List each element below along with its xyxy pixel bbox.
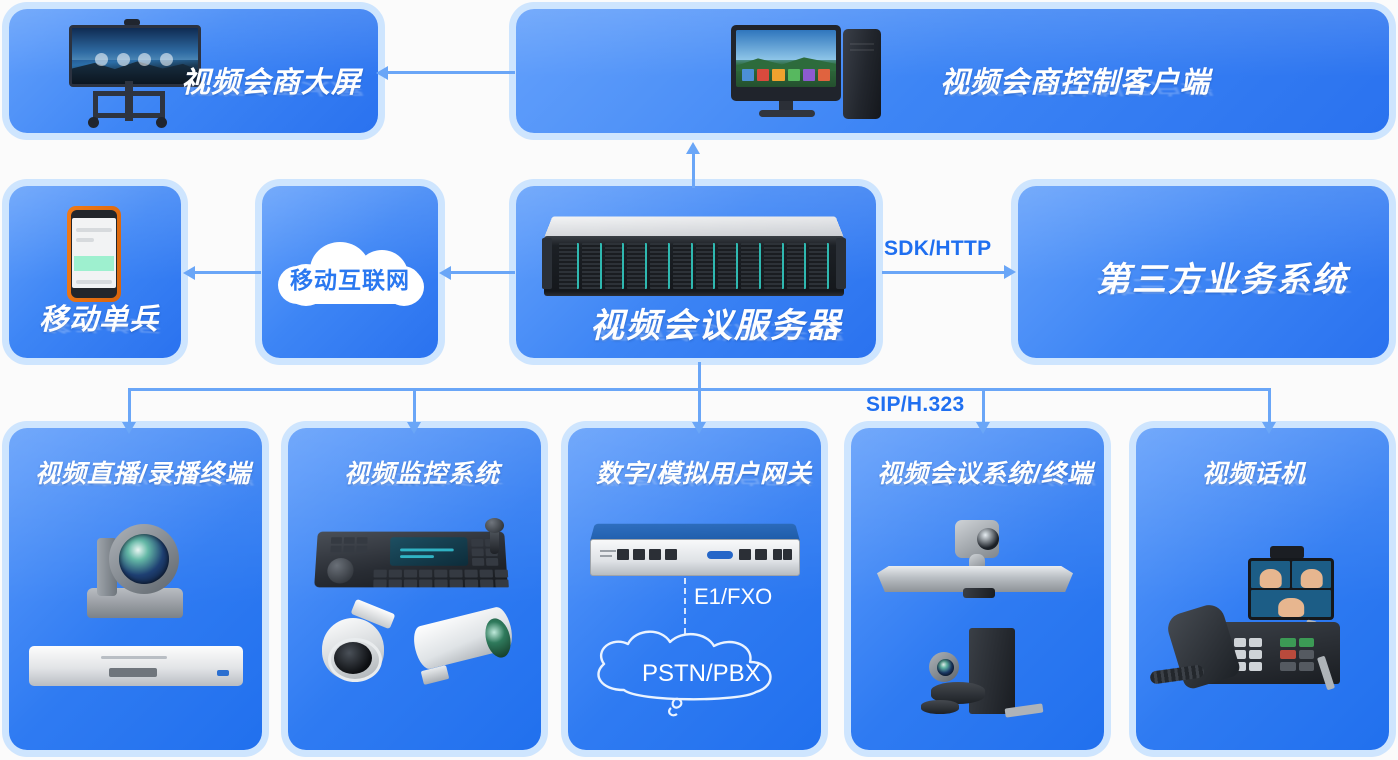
connector-server-to-internet — [449, 271, 515, 274]
connector-server-to-thirdparty — [882, 271, 1006, 274]
arrowhead-to-internet — [439, 266, 451, 280]
voice-gateway-appliance-icon — [590, 518, 800, 576]
node-control-client[interactable]: 视频会商控制客户端 视频会商控制客户端 — [516, 9, 1389, 133]
arrowhead-vc-system — [976, 422, 990, 434]
node-live-terminal[interactable]: 视频直播/录播终端 视频直播/录播终端 — [9, 428, 262, 750]
label-vc-system-text: 视频会议系统/终端 — [877, 460, 1093, 488]
arrowhead-surveillance — [407, 422, 421, 434]
video-desk-phone-icon — [1154, 546, 1378, 736]
node-big-screen[interactable]: 视频会商大屏 视频会商大屏 — [9, 9, 378, 133]
label-pstn-pbx: PSTN/PBX — [642, 660, 761, 688]
protocol-label-sdk-http: SDK/HTTP — [884, 237, 991, 261]
label-mobile-unit-text: 移动单兵 — [39, 304, 159, 336]
label-gateway-text: 数字/模拟用户网关 — [596, 460, 812, 488]
label-third-party: 第三方业务系统 第三方业务系统 — [1096, 252, 1348, 301]
arrowhead-gateway — [692, 422, 706, 434]
node-mobile-internet[interactable]: 移动互联网 — [262, 186, 438, 358]
arrowhead-live-terminal — [122, 422, 136, 434]
node-third-party[interactable]: 第三方业务系统 第三方业务系统 — [1018, 186, 1389, 358]
node-surveillance[interactable]: 视频监控系统 视频监控系统 — [288, 428, 541, 750]
rack-server-icon — [544, 208, 844, 296]
connector-server-to-client — [692, 152, 695, 188]
label-third-party-text: 第三方业务系统 — [1096, 261, 1348, 299]
label-video-phone-text: 视频话机 — [1202, 460, 1306, 488]
protocol-label-e1-fxo: E1/FXO — [694, 584, 772, 610]
node-video-phone[interactable]: 视频话机 视频话机 — [1136, 428, 1389, 750]
arrowhead-to-client — [686, 142, 700, 154]
label-conference-server: 视频会议服务器 视频会议服务器 — [590, 298, 842, 347]
label-control-client: 视频会商控制客户端 视频会商控制客户端 — [940, 59, 1210, 101]
arrowhead-to-bigscreen — [376, 66, 388, 80]
ptz-camera-and-codec-icon — [67, 520, 217, 720]
protocol-label-sip-h323: SIP/H.323 — [866, 393, 964, 417]
label-surveillance: 视频监控系统 视频监控系统 — [344, 454, 500, 490]
label-mobile-internet: 移动互联网 — [290, 261, 410, 295]
label-gateway: 数字/模拟用户网关 数字/模拟用户网关 — [596, 454, 812, 490]
control-keyboard-and-cctv-cameras-icon — [306, 518, 524, 728]
connector-client-to-bigscreen — [386, 71, 515, 74]
arrowhead-video-phone — [1262, 422, 1276, 434]
architecture-diagram: SDK/HTTP SIP/H.323 视 — [0, 0, 1398, 760]
node-gateway[interactable]: 数字/模拟用户网关 数字/模拟用户网关 E1/FXO PSTN/PBX — [568, 428, 821, 750]
label-control-client-text: 视频会商控制客户端 — [940, 67, 1210, 99]
label-vc-system: 视频会议系统/终端 视频会议系统/终端 — [877, 454, 1093, 490]
connector-internet-to-mobile — [193, 271, 261, 274]
label-big-screen: 视频会商大屏 视频会商大屏 — [181, 59, 361, 101]
label-conference-server-text: 视频会议服务器 — [590, 307, 842, 345]
label-big-screen-text: 视频会商大屏 — [181, 67, 361, 99]
label-video-phone: 视频话机 视频话机 — [1202, 454, 1306, 490]
node-conference-server[interactable]: 视频会议服务器 视频会议服务器 — [516, 186, 876, 358]
label-mobile-unit: 移动单兵 移动单兵 — [39, 296, 159, 338]
node-mobile-unit[interactable]: 移动单兵 移动单兵 — [9, 186, 181, 358]
label-live-terminal: 视频直播/录播终端 视频直播/录播终端 — [35, 454, 251, 490]
label-surveillance-text: 视频监控系统 — [344, 460, 500, 488]
arrowhead-to-mobile — [183, 266, 195, 280]
arrowhead-to-thirdparty — [1004, 265, 1016, 279]
desktop-computer-icon — [731, 21, 896, 123]
label-live-terminal-text: 视频直播/录播终端 — [35, 460, 251, 488]
rugged-smartphone-icon — [67, 206, 121, 302]
node-vc-system[interactable]: 视频会议系统/终端 视频会议系统/终端 — [851, 428, 1104, 750]
conference-camera-bar-and-codec-icon — [877, 520, 1077, 720]
